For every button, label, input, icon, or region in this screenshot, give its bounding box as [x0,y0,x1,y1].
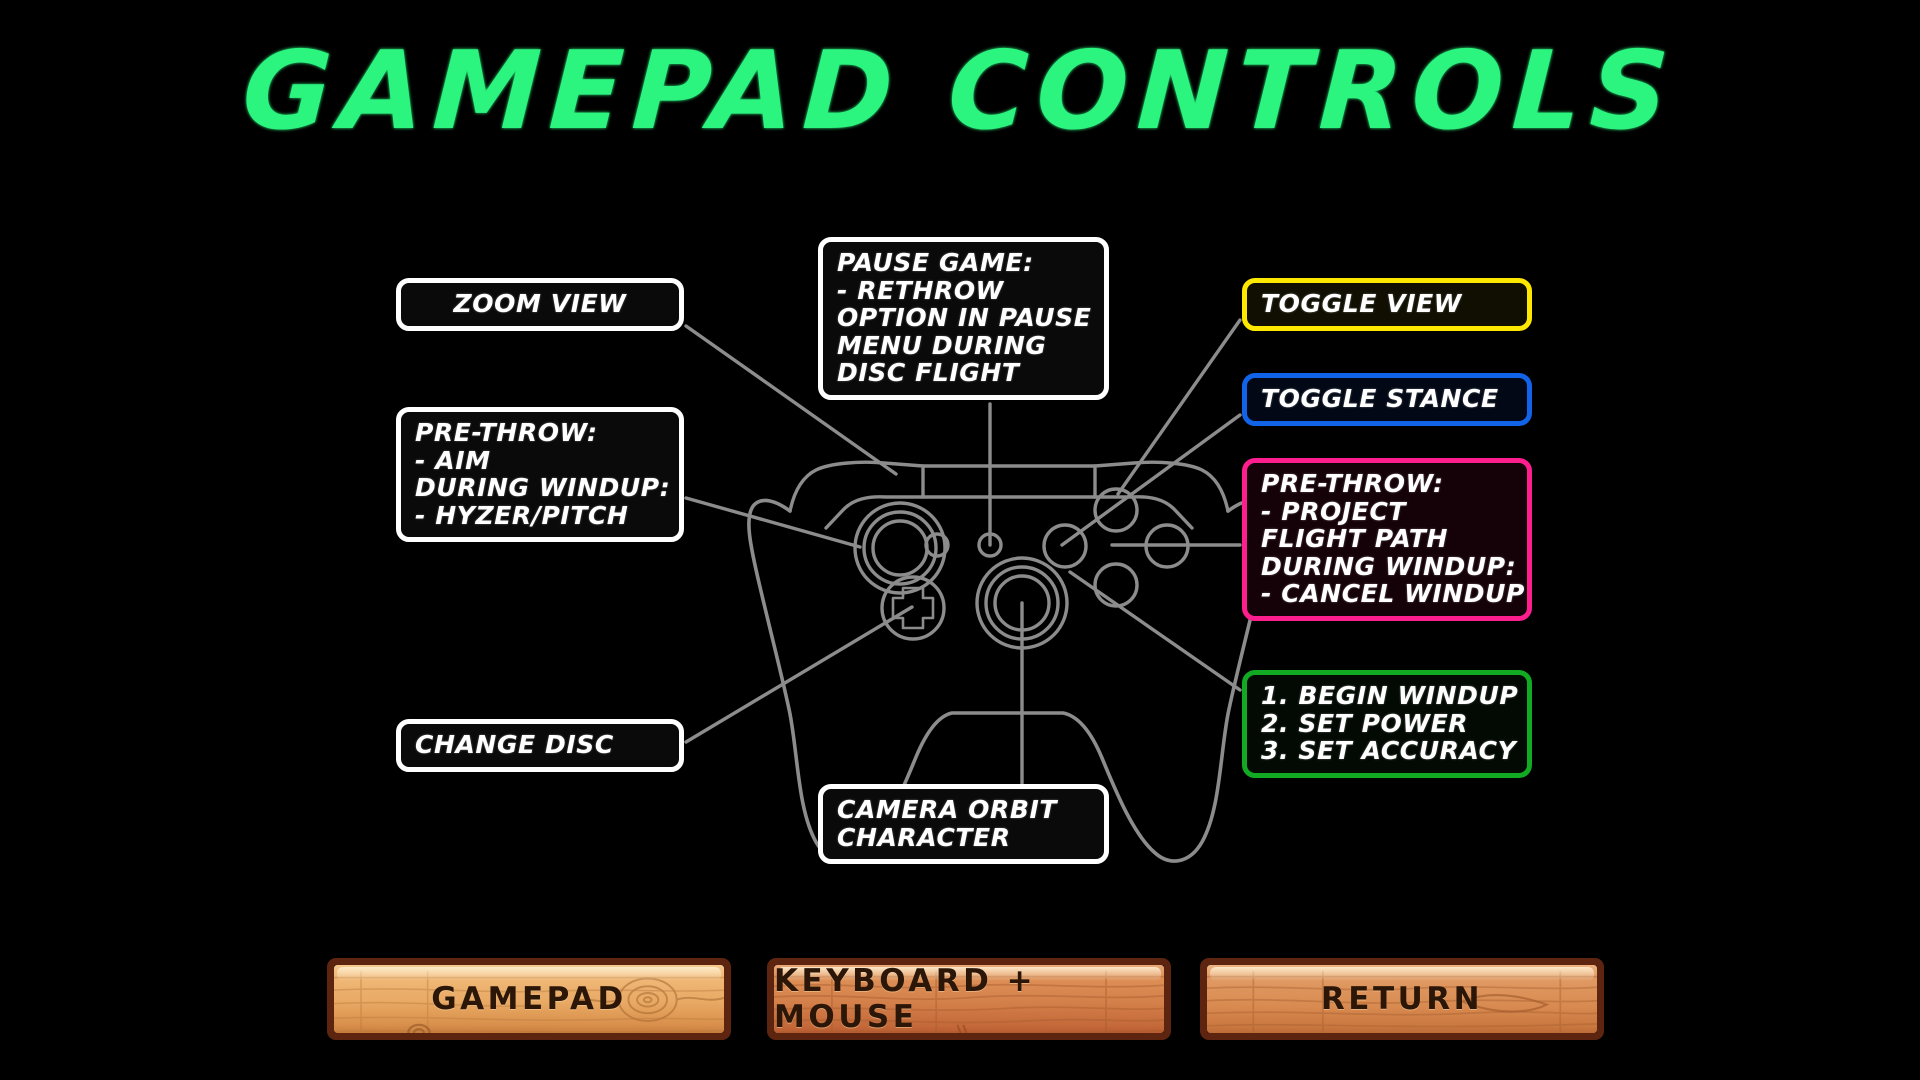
callout-line: TOGGLE VIEW [1261,290,1513,318]
callout-line: DURING WINDUP: [1261,553,1513,581]
gamepad-controls-screen: GAMEPAD CONTROLS [0,0,1920,1080]
return-button-label: RETURN [1207,965,1597,1033]
callout-line: CAMERA ORBIT [837,796,1090,824]
callout-pause-game[interactable]: PAUSE GAME: - RETHROW OPTION IN PAUSE ME… [818,237,1109,400]
callout-line: 3. SET ACCURACY [1261,737,1513,765]
callout-pre-throw-b-button[interactable]: PRE-THROW: - PROJECT FLIGHT PATH DURING … [1242,458,1532,621]
callout-line: PRE-THROW: [415,419,665,447]
callout-line: CHANGE DISC [415,731,665,759]
callout-toggle-stance[interactable]: TOGGLE STANCE [1242,373,1532,426]
keyboard-mouse-tab-label: KEYBOARD + MOUSE [774,965,1164,1033]
leader-line-pre-throw-left [686,498,860,547]
callout-line: - RETHROW [837,277,1090,305]
callout-line: - AIM [415,447,665,475]
callout-line: DURING WINDUP: [415,474,665,502]
callout-camera-orbit[interactable]: CAMERA ORBIT CHARACTER [818,784,1109,864]
gamepad-top-bridge [923,466,1095,497]
bottom-button-row: GAMEPAD [0,958,1920,1068]
leader-line-toggle-view [1118,320,1240,494]
left-bumper-outline [790,462,923,528]
callout-line: TOGGLE STANCE [1261,385,1513,413]
leader-line-change-disc [686,607,912,742]
callout-line: MENU DURING [837,332,1090,360]
callout-line: - PROJECT [1261,498,1513,526]
left-analog-stick-ring-inner [873,521,927,575]
x-button [1044,525,1086,567]
gamepad-diagram [0,0,1920,1080]
callout-line: DISC FLIGHT [837,359,1090,387]
callout-line: CHARACTER [837,824,1090,852]
a-button [1095,564,1137,606]
return-button[interactable]: RETURN [1200,958,1604,1040]
callout-line: PRE-THROW: [1261,470,1513,498]
callout-line: 1. BEGIN WINDUP [1261,682,1513,710]
callout-line: FLIGHT PATH [1261,525,1513,553]
callout-line: 2. SET POWER [1261,710,1513,738]
callout-line: PAUSE GAME: [837,249,1090,277]
callout-windup-sequence[interactable]: 1. BEGIN WINDUP 2. SET POWER 3. SET ACCU… [1242,670,1532,778]
callout-zoom-view[interactable]: ZOOM VIEW [396,278,684,331]
keyboard-mouse-tab-button[interactable]: KEYBOARD + MOUSE [767,958,1171,1040]
gamepad-tab-label: GAMEPAD [334,965,724,1033]
callout-line: ZOOM VIEW [415,290,665,318]
callout-toggle-view[interactable]: TOGGLE VIEW [1242,278,1532,331]
gamepad-tab-button[interactable]: GAMEPAD [327,958,731,1040]
callout-change-disc[interactable]: CHANGE DISC [396,719,684,772]
callout-line: - HYZER/PITCH [415,502,665,530]
callout-line: - CANCEL WINDUP [1261,580,1513,608]
callout-pre-throw-left-stick[interactable]: PRE-THROW: - AIM DURING WINDUP: - HYZER/… [396,407,684,542]
callout-line: OPTION IN PAUSE [837,304,1090,332]
